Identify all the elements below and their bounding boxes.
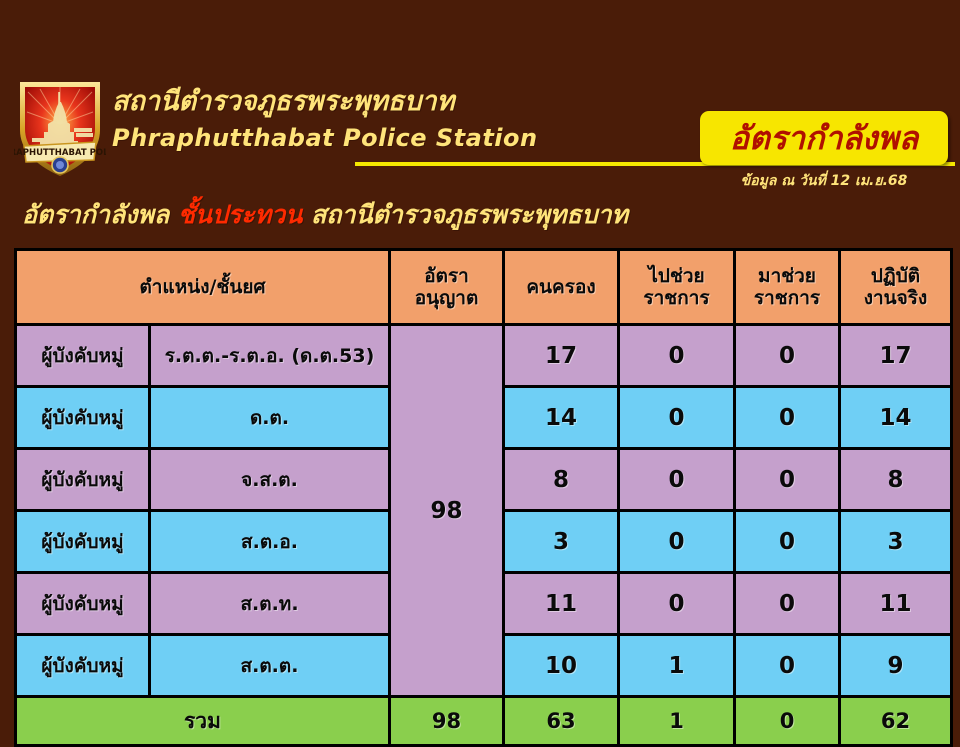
header-text-line2: งานจริง — [841, 287, 950, 309]
cell-rank: ผู้บังคับหมู่ — [16, 635, 150, 697]
subtitle-part-highlight: ชั้นประทวน — [178, 200, 302, 229]
header-text-line1: มาช่วย — [736, 265, 838, 287]
header-text-line1: อัตรา — [391, 265, 502, 287]
cell-seconded-in: 0 — [735, 511, 840, 573]
cell-title: ส.ต.ต. — [150, 635, 390, 697]
header-text-line2: อนุญาต — [391, 287, 502, 309]
cell-seconded-out: 0 — [619, 449, 735, 511]
header-text-line1: ไปช่วย — [620, 265, 733, 287]
police-badge-logo: PHRAPHUTTHABAT POLICE — [14, 72, 106, 180]
personnel-strength-table: ตำแหน่ง/ชั้นยศ อัตรา อนุญาต คนครอง ไปช่ว… — [14, 248, 953, 747]
column-header-quota: อัตรา อนุญาต — [390, 250, 504, 325]
cell-actual-duty: 11 — [840, 573, 952, 635]
cell-title: ร.ต.ต.-ร.ต.อ. (ด.ต.53) — [150, 325, 390, 387]
total-quota: 98 — [390, 697, 504, 746]
cell-seconded-in: 0 — [735, 573, 840, 635]
column-header-seconded-out: ไปช่วย ราชการ — [619, 250, 735, 325]
page-header: PHRAPHUTTHABAT POLICE สถานีตำรวจภูธรพระพ… — [0, 0, 960, 200]
cell-actual-duty: 9 — [840, 635, 952, 697]
cell-seconded-out: 0 — [619, 387, 735, 449]
header-text-line2: ราชการ — [620, 287, 733, 309]
cell-rank: ผู้บังคับหมู่ — [16, 325, 150, 387]
table-body: ผู้บังคับหมู่ ร.ต.ต.-ร.ต.อ. (ด.ต.53) 98 … — [16, 325, 952, 746]
cell-seconded-out: 1 — [619, 635, 735, 697]
cell-title: จ.ส.ต. — [150, 449, 390, 511]
cell-actual-duty: 3 — [840, 511, 952, 573]
cell-quota-merged: 98 — [390, 325, 504, 697]
column-header-seconded-in: มาช่วย ราชการ — [735, 250, 840, 325]
cell-occupied: 11 — [504, 573, 619, 635]
total-label: รวม — [16, 697, 390, 746]
cell-occupied: 10 — [504, 635, 619, 697]
cell-seconded-out: 0 — [619, 325, 735, 387]
total-actual-duty: 62 — [840, 697, 952, 746]
total-occupied: 63 — [504, 697, 619, 746]
cell-seconded-in: 0 — [735, 387, 840, 449]
cell-seconded-out: 0 — [619, 573, 735, 635]
cell-occupied: 14 — [504, 387, 619, 449]
title-plate-label: อัตรากำลังพล — [730, 122, 918, 154]
header-text: คนครอง — [505, 276, 617, 298]
cell-title: ด.ต. — [150, 387, 390, 449]
cell-seconded-in: 0 — [735, 325, 840, 387]
cell-seconded-out: 0 — [619, 511, 735, 573]
column-header-position-rank: ตำแหน่ง/ชั้นยศ — [16, 250, 390, 325]
cell-actual-duty: 8 — [840, 449, 952, 511]
cell-rank: ผู้บังคับหมู่ — [16, 387, 150, 449]
cell-seconded-in: 0 — [735, 449, 840, 511]
cell-title: ส.ต.อ. — [150, 511, 390, 573]
cell-occupied: 8 — [504, 449, 619, 511]
data-as-of-date: ข้อมูล ณ วันที่ 12 เม.ย.68 — [700, 170, 948, 192]
table-header-row: ตำแหน่ง/ชั้นยศ อัตรา อนุญาต คนครอง ไปช่ว… — [16, 250, 952, 325]
cell-title: ส.ต.ท. — [150, 573, 390, 635]
title-plate: อัตรากำลังพล — [700, 111, 948, 165]
subtitle-part-3: สถานีตำรวจภูธรพระพุทธบาท — [302, 200, 628, 229]
header-text-line1: ปฏิบัติ — [841, 265, 950, 287]
table-row: ผู้บังคับหมู่ ร.ต.ต.-ร.ต.อ. (ด.ต.53) 98 … — [16, 325, 952, 387]
cell-seconded-in: 0 — [735, 635, 840, 697]
station-name-thai: สถานีตำรวจภูธรพระพุทธบาท — [112, 86, 732, 117]
cell-occupied: 3 — [504, 511, 619, 573]
table-total-row: รวม 98 63 1 0 62 — [16, 697, 952, 746]
cell-actual-duty: 17 — [840, 325, 952, 387]
total-seconded-out: 1 — [619, 697, 735, 746]
column-header-occupied: คนครอง — [504, 250, 619, 325]
column-header-actual-duty: ปฏิบัติ งานจริง — [840, 250, 952, 325]
cell-rank: ผู้บังคับหมู่ — [16, 449, 150, 511]
total-seconded-in: 0 — [735, 697, 840, 746]
cell-actual-duty: 14 — [840, 387, 952, 449]
header-text-line2: ราชการ — [736, 287, 838, 309]
station-name-block: สถานีตำรวจภูธรพระพุทธบาท Phraphutthabat … — [112, 86, 732, 151]
cell-occupied: 17 — [504, 325, 619, 387]
cell-rank: ผู้บังคับหมู่ — [16, 511, 150, 573]
page-subtitle: อัตรากำลังพล ชั้นประทวน สถานีตำรวจภูธรพร… — [22, 200, 628, 230]
subtitle-part-1: อัตรากำลังพล — [22, 200, 178, 229]
station-name-english: Phraphutthabat Police Station — [112, 125, 732, 151]
header-text: ตำแหน่ง/ชั้นยศ — [17, 276, 388, 298]
cell-rank: ผู้บังคับหมู่ — [16, 573, 150, 635]
